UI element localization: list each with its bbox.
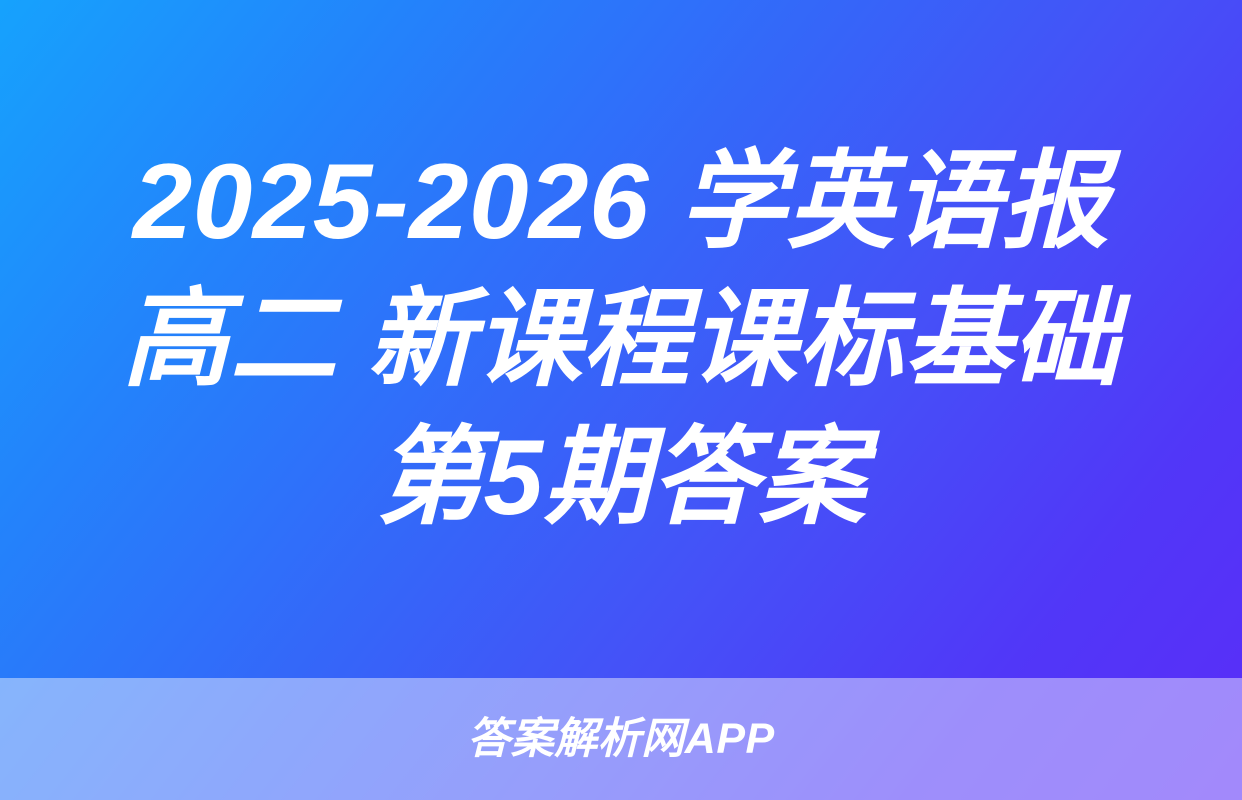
poster-headline: 2025-2026 学英语报 高二 新课程课标基础 第5期答案: [66, 132, 1176, 546]
footer-brand-band: 答案解析网APP: [0, 678, 1242, 800]
headline-block: 2025-2026 学英语报 高二 新课程课标基础 第5期答案: [0, 0, 1242, 678]
share-poster-card: 2025-2026 学英语报 高二 新课程课标基础 第5期答案 答案解析网APP: [0, 0, 1242, 800]
app-brand-label: 答案解析网APP: [467, 718, 774, 761]
